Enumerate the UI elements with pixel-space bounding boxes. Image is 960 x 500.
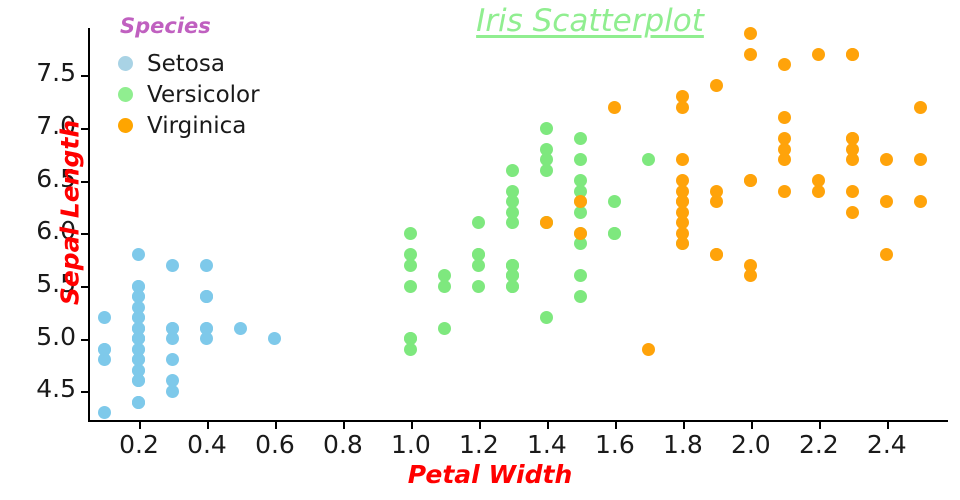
legend-item-versicolor[interactable]: Versicolor <box>118 79 260 110</box>
data-point-versicolor <box>574 290 587 303</box>
data-point-versicolor <box>574 269 587 282</box>
legend: Species SetosaVersicolorVirginica <box>118 14 260 141</box>
data-point-virginica <box>608 101 621 114</box>
data-point-versicolor <box>574 174 587 187</box>
y-tick-label: 5.0 <box>0 322 76 351</box>
legend-item-virginica[interactable]: Virginica <box>118 110 260 141</box>
legend-item-setosa[interactable]: Setosa <box>118 48 260 79</box>
data-point-setosa <box>200 322 213 335</box>
data-point-virginica <box>812 185 825 198</box>
data-point-setosa <box>166 353 179 366</box>
data-point-virginica <box>914 195 927 208</box>
data-point-virginica <box>778 153 791 166</box>
data-point-virginica <box>778 111 791 124</box>
data-point-setosa <box>166 332 179 345</box>
y-tick-label: 4.5 <box>0 374 76 403</box>
data-point-virginica <box>676 153 689 166</box>
data-point-setosa <box>234 322 247 335</box>
x-tick-mark <box>615 422 617 429</box>
data-point-versicolor <box>472 216 485 229</box>
data-point-versicolor <box>438 280 451 293</box>
data-point-setosa <box>132 374 145 387</box>
legend-label: Virginica <box>147 113 246 139</box>
data-point-virginica <box>642 343 655 356</box>
data-point-virginica <box>846 185 859 198</box>
x-tick-mark <box>343 422 345 429</box>
data-point-virginica <box>778 185 791 198</box>
data-point-virginica <box>880 248 893 261</box>
data-point-virginica <box>710 79 723 92</box>
data-point-setosa <box>166 385 179 398</box>
data-point-setosa <box>268 332 281 345</box>
y-axis-title: Sepal Length <box>56 113 85 313</box>
data-point-versicolor <box>540 143 553 156</box>
x-tick-mark <box>683 422 685 429</box>
data-point-versicolor <box>540 122 553 135</box>
data-point-versicolor <box>404 332 417 345</box>
data-point-virginica <box>880 153 893 166</box>
y-tick-mark <box>81 339 88 341</box>
data-point-versicolor <box>438 322 451 335</box>
data-point-virginica <box>914 153 927 166</box>
data-point-virginica <box>744 174 757 187</box>
data-point-versicolor <box>404 259 417 272</box>
x-axis-title: Petal Width <box>10 460 960 489</box>
data-point-versicolor <box>642 153 655 166</box>
x-tick-mark <box>139 422 141 429</box>
y-axis-spine <box>88 28 90 422</box>
legend-label: Setosa <box>147 51 225 77</box>
data-point-virginica <box>744 269 757 282</box>
data-point-versicolor <box>472 259 485 272</box>
data-point-versicolor <box>574 153 587 166</box>
data-point-versicolor <box>506 259 519 272</box>
data-point-versicolor <box>472 280 485 293</box>
data-point-versicolor <box>540 164 553 177</box>
data-point-virginica <box>676 185 689 198</box>
data-point-virginica <box>676 101 689 114</box>
y-tick-label: 7.5 <box>0 58 76 87</box>
x-tick-mark <box>751 422 753 429</box>
legend-title: Species <box>120 14 260 38</box>
x-tick-mark <box>207 422 209 429</box>
data-point-versicolor <box>404 280 417 293</box>
data-point-virginica <box>846 206 859 219</box>
data-point-virginica <box>744 27 757 40</box>
data-point-setosa <box>132 396 145 409</box>
data-point-virginica <box>676 237 689 250</box>
data-point-virginica <box>778 132 791 145</box>
y-tick-mark <box>81 391 88 393</box>
data-point-versicolor <box>506 164 519 177</box>
x-tick-mark <box>887 422 889 429</box>
x-tick-mark <box>819 422 821 429</box>
data-point-setosa <box>132 301 145 314</box>
data-point-virginica <box>540 216 553 229</box>
data-point-setosa <box>166 259 179 272</box>
data-point-virginica <box>812 48 825 61</box>
data-point-setosa <box>200 259 213 272</box>
x-tick-label: 2.4 <box>847 430 927 459</box>
data-point-setosa <box>98 406 111 419</box>
data-point-versicolor <box>608 227 621 240</box>
x-tick-mark <box>547 422 549 429</box>
data-point-versicolor <box>540 311 553 324</box>
legend-swatch-icon <box>118 56 133 71</box>
data-point-virginica <box>744 48 757 61</box>
y-tick-mark <box>81 75 88 77</box>
x-tick-mark <box>275 422 277 429</box>
data-point-setosa <box>200 290 213 303</box>
data-point-virginica <box>880 195 893 208</box>
legend-items: SetosaVersicolorVirginica <box>118 48 260 141</box>
data-point-virginica <box>914 101 927 114</box>
data-point-setosa <box>98 311 111 324</box>
data-point-setosa <box>98 343 111 356</box>
legend-swatch-icon <box>118 118 133 133</box>
legend-swatch-icon <box>118 87 133 102</box>
data-point-virginica <box>574 227 587 240</box>
data-point-versicolor <box>506 206 519 219</box>
x-tick-mark <box>411 422 413 429</box>
data-point-virginica <box>710 195 723 208</box>
x-tick-mark <box>479 422 481 429</box>
data-point-versicolor <box>574 132 587 145</box>
data-point-setosa <box>132 332 145 345</box>
data-point-virginica <box>574 195 587 208</box>
data-point-versicolor <box>404 227 417 240</box>
data-point-setosa <box>132 248 145 261</box>
data-point-virginica <box>710 248 723 261</box>
data-point-setosa <box>132 280 145 293</box>
data-point-virginica <box>846 153 859 166</box>
legend-label: Versicolor <box>147 82 260 108</box>
data-point-virginica <box>778 58 791 71</box>
data-point-versicolor <box>608 195 621 208</box>
data-point-virginica <box>846 48 859 61</box>
scatterplot-figure: Iris Scatterplot 4.55.05.56.06.57.07.5 0… <box>0 0 960 500</box>
